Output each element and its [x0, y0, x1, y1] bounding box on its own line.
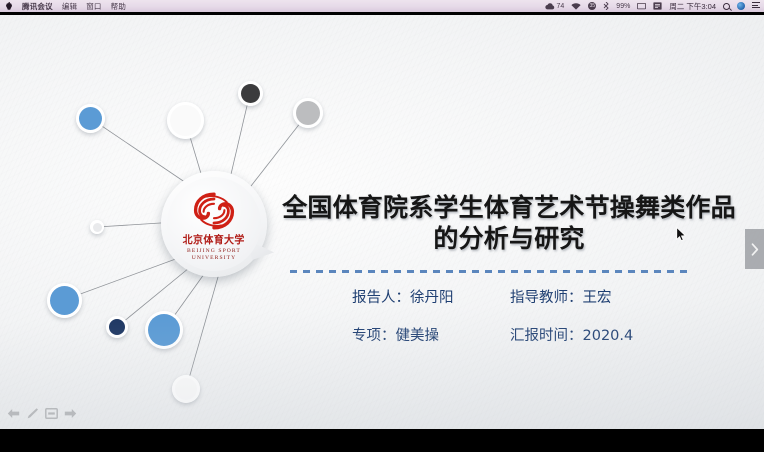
node-fill [296, 101, 320, 125]
menu-bar-datetime[interactable]: 周二 下午3:04 [669, 1, 716, 12]
mouse-pointer [676, 227, 687, 242]
logo-name-en-line2: UNIVERSITY [192, 255, 237, 261]
node-navy-bottom [106, 316, 128, 338]
bluetooth-icon[interactable] [603, 2, 609, 10]
node-fill [109, 319, 125, 335]
next-slide-arrow-icon[interactable] [63, 406, 78, 421]
macos-menu-bar: 腾讯会议 编辑 窗口 帮助 74 35 99% [0, 0, 764, 12]
wifi-icon[interactable] [571, 3, 581, 10]
pen-tool-icon[interactable] [25, 406, 40, 421]
input-method-icon[interactable] [653, 2, 662, 10]
presentation-slide: 北京体育大学 BEIJING SPORT UNIVERSITY 全国体育院系学生… [0, 15, 764, 429]
menu-bar-left: 腾讯会议 编辑 窗口 帮助 [0, 1, 126, 12]
logo-name-en-line1: BEIJING SPORT [187, 248, 241, 254]
menu-item-help[interactable]: 帮助 [111, 1, 126, 12]
title-line-2: 的分析与研究 [278, 224, 740, 255]
battery-shield-icon[interactable]: 35 [588, 2, 596, 10]
node-blue-top-left [76, 104, 105, 133]
battery-badge: 35 [588, 2, 596, 10]
menu-app-name[interactable]: 腾讯会议 [22, 1, 53, 12]
menu-item-edit[interactable]: 编辑 [62, 1, 77, 12]
node-fill [93, 223, 102, 232]
node-fill [175, 378, 197, 400]
meta-specialty: 专项：健美操 [352, 329, 510, 344]
slide-menu-icon[interactable] [44, 406, 59, 421]
node-fill [148, 314, 180, 346]
menu-bar-status-area: 74 35 99% 周二 下午3:04 [545, 1, 764, 12]
search-icon[interactable] [723, 3, 730, 10]
red-swirl-emblem-icon [190, 191, 238, 231]
screen-share-icon[interactable] [637, 3, 646, 10]
volume-level: 99% [616, 3, 630, 10]
dashed-divider [290, 270, 690, 273]
next-slide-button[interactable] [745, 229, 764, 269]
screen: 腾讯会议 编辑 窗口 帮助 74 35 99% [0, 0, 764, 452]
globe-icon[interactable] [737, 2, 745, 10]
presenter-controls [6, 406, 78, 421]
page-title: 全国体育院系学生体育艺术节操舞类作品 的分析与研究 [278, 193, 740, 254]
meta-row: 专项：健美操 汇报时间：2020.4 [352, 329, 682, 344]
node-fill [170, 105, 201, 136]
logo-inner: 北京体育大学 BEIJING SPORT UNIVERSITY [167, 177, 261, 271]
title-block: 全国体育院系学生体育艺术节操舞类作品 的分析与研究 [278, 193, 740, 254]
letterbox-bottom [0, 429, 764, 452]
node-fill [79, 107, 102, 130]
meta-advisor: 指导教师：王宏 [510, 291, 612, 306]
node-blue-left [47, 283, 82, 318]
node-ring-left [90, 220, 104, 234]
node-blue-bottom [145, 311, 183, 349]
presentation-meta: 报告人：徐丹阳 指导教师：王宏 专项：健美操 汇报时间：2020.4 [352, 291, 682, 343]
cloud-icon[interactable]: 74 [545, 3, 564, 10]
logo-name-cn: 北京体育大学 [183, 232, 245, 247]
chevron-right-icon [751, 243, 759, 256]
node-white-bottom [172, 375, 200, 403]
control-center-icon[interactable] [752, 2, 760, 10]
node-fill [50, 286, 79, 315]
meta-row: 报告人：徐丹阳 指导教师：王宏 [352, 291, 682, 306]
node-charcoal-top [238, 81, 263, 106]
apple-logo-icon[interactable] [5, 2, 13, 11]
cloud-badge: 74 [557, 3, 565, 10]
menu-item-window[interactable]: 窗口 [86, 1, 101, 12]
meta-date: 汇报时间：2020.4 [510, 329, 633, 344]
node-gray-top-right [293, 98, 323, 128]
node-fill [241, 84, 260, 103]
university-logo-bubble: 北京体育大学 BEIJING SPORT UNIVERSITY [161, 171, 267, 277]
node-white-top [167, 102, 204, 139]
title-line-1: 全国体育院系学生体育艺术节操舞类作品 [282, 193, 736, 222]
meta-presenter: 报告人：徐丹阳 [352, 291, 510, 306]
volume-icon[interactable]: 99% [616, 3, 630, 10]
prev-slide-arrow-icon[interactable] [6, 406, 21, 421]
